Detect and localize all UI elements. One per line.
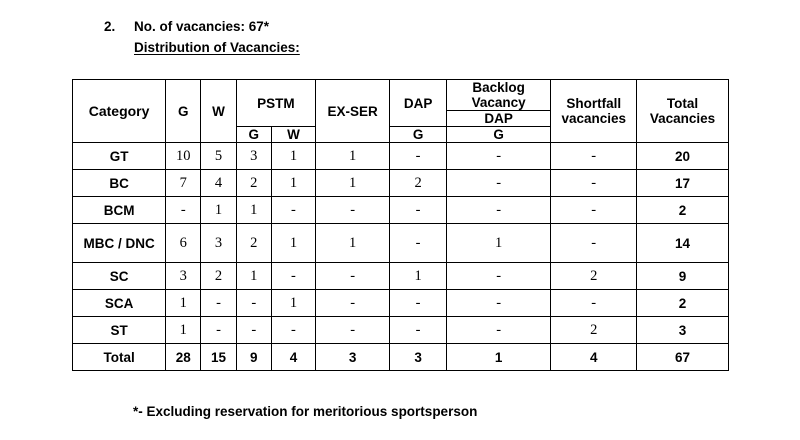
cell-backlog: - bbox=[446, 263, 551, 290]
cell-w: 2 bbox=[201, 263, 236, 290]
header-category: Category bbox=[73, 80, 166, 143]
cell-dap: 2 bbox=[390, 170, 447, 197]
table-row: ST1------23 bbox=[73, 317, 729, 344]
cell-shortfall: - bbox=[551, 290, 637, 317]
cell-pstm-g: 2 bbox=[236, 170, 271, 197]
cell-shortfall: - bbox=[551, 224, 637, 263]
header-pstm: PSTM bbox=[236, 80, 315, 127]
cell-pstm-w: - bbox=[271, 197, 315, 224]
cell-ex-ser: 1 bbox=[315, 224, 389, 263]
cell-g: 3 bbox=[166, 263, 201, 290]
cell-pstm-w: 1 bbox=[271, 224, 315, 263]
cell-shortfall: 2 bbox=[551, 263, 637, 290]
cell-dap: 3 bbox=[390, 344, 447, 371]
cell-pstm-g: - bbox=[236, 317, 271, 344]
header-total-vacancies: Total Vacancies bbox=[637, 80, 729, 143]
cell-total: 20 bbox=[637, 143, 729, 170]
vacancy-distribution-table-container: Category G W PSTM EX-SER DAP Backlog Vac… bbox=[72, 79, 729, 371]
cell-pstm-w: - bbox=[271, 317, 315, 344]
heading-line-distribution: Distribution of Vacancies: bbox=[104, 37, 300, 58]
cell-w: - bbox=[201, 290, 236, 317]
cell-dap: - bbox=[390, 143, 447, 170]
cell-total: 14 bbox=[637, 224, 729, 263]
cell-g: 10 bbox=[166, 143, 201, 170]
cell-total: 9 bbox=[637, 263, 729, 290]
cell-w: 4 bbox=[201, 170, 236, 197]
row-label: Total bbox=[73, 344, 166, 371]
cell-pstm-g: 2 bbox=[236, 224, 271, 263]
cell-ex-ser: 1 bbox=[315, 170, 389, 197]
table-header: Category G W PSTM EX-SER DAP Backlog Vac… bbox=[73, 80, 729, 143]
vacancy-distribution-table: Category G W PSTM EX-SER DAP Backlog Vac… bbox=[72, 79, 729, 371]
row-label: BCM bbox=[73, 197, 166, 224]
cell-shortfall: 2 bbox=[551, 317, 637, 344]
cell-w: - bbox=[201, 317, 236, 344]
cell-dap: 1 bbox=[390, 263, 447, 290]
cell-w: 15 bbox=[201, 344, 236, 371]
cell-g: 1 bbox=[166, 290, 201, 317]
header-dap-g: G bbox=[390, 127, 447, 143]
cell-pstm-w: 1 bbox=[271, 143, 315, 170]
row-label: MBC / DNC bbox=[73, 224, 166, 263]
cell-backlog: - bbox=[446, 317, 551, 344]
cell-ex-ser: 1 bbox=[315, 143, 389, 170]
cell-ex-ser: - bbox=[315, 263, 389, 290]
cell-w: 1 bbox=[201, 197, 236, 224]
cell-g: 6 bbox=[166, 224, 201, 263]
cell-backlog: 1 bbox=[446, 344, 551, 371]
cell-pstm-g: 9 bbox=[236, 344, 271, 371]
distribution-title: Distribution of Vacancies: bbox=[134, 40, 300, 55]
cell-pstm-g: - bbox=[236, 290, 271, 317]
row-label: GT bbox=[73, 143, 166, 170]
cell-total: 2 bbox=[637, 290, 729, 317]
cell-pstm-w: 1 bbox=[271, 290, 315, 317]
cell-shortfall: - bbox=[551, 143, 637, 170]
table-row: MBC / DNC63211-1-14 bbox=[73, 224, 729, 263]
header-dap: DAP bbox=[390, 80, 447, 127]
cell-g: 1 bbox=[166, 317, 201, 344]
cell-pstm-w: 1 bbox=[271, 170, 315, 197]
table-row: BC742112--17 bbox=[73, 170, 729, 197]
table-row: SCA1--1----2 bbox=[73, 290, 729, 317]
cell-backlog: - bbox=[446, 143, 551, 170]
header-w: W bbox=[201, 80, 236, 143]
row-label: SC bbox=[73, 263, 166, 290]
table-row: Total281594331467 bbox=[73, 344, 729, 371]
cell-backlog: 1 bbox=[446, 224, 551, 263]
row-label: ST bbox=[73, 317, 166, 344]
header-g: G bbox=[166, 80, 201, 143]
cell-pstm-w: - bbox=[271, 263, 315, 290]
cell-pstm-g: 1 bbox=[236, 263, 271, 290]
cell-total: 67 bbox=[637, 344, 729, 371]
table-body: GT105311---20BC742112--17BCM-11-----2MBC… bbox=[73, 143, 729, 371]
table-row: SC321--1-29 bbox=[73, 263, 729, 290]
list-number: 2. bbox=[104, 16, 134, 37]
vacancies-count-text: No. of vacancies: 67* bbox=[134, 16, 269, 37]
cell-backlog: - bbox=[446, 197, 551, 224]
cell-dap: - bbox=[390, 317, 447, 344]
cell-ex-ser: 3 bbox=[315, 344, 389, 371]
cell-total: 17 bbox=[637, 170, 729, 197]
cell-w: 3 bbox=[201, 224, 236, 263]
cell-shortfall: 4 bbox=[551, 344, 637, 371]
cell-g: 7 bbox=[166, 170, 201, 197]
header-backlog-vacancy: Backlog Vacancy bbox=[446, 80, 551, 111]
row-label: SCA bbox=[73, 290, 166, 317]
cell-pstm-w: 4 bbox=[271, 344, 315, 371]
header-pstm-g: G bbox=[236, 127, 271, 143]
header-shortfall-vacancies: Shortfall vacancies bbox=[551, 80, 637, 143]
cell-total: 2 bbox=[637, 197, 729, 224]
cell-ex-ser: - bbox=[315, 317, 389, 344]
header-backlog-dap: DAP bbox=[446, 111, 551, 127]
row-label: BC bbox=[73, 170, 166, 197]
cell-pstm-g: 3 bbox=[236, 143, 271, 170]
header-ex-ser: EX-SER bbox=[315, 80, 389, 143]
cell-total: 3 bbox=[637, 317, 729, 344]
cell-g: 28 bbox=[166, 344, 201, 371]
cell-pstm-g: 1 bbox=[236, 197, 271, 224]
header-backlog-g: G bbox=[446, 127, 551, 143]
footnote: *- Excluding reservation for meritorious… bbox=[133, 404, 477, 419]
header-pstm-w: W bbox=[271, 127, 315, 143]
cell-shortfall: - bbox=[551, 197, 637, 224]
cell-dap: - bbox=[390, 197, 447, 224]
cell-backlog: - bbox=[446, 290, 551, 317]
cell-backlog: - bbox=[446, 170, 551, 197]
cell-dap: - bbox=[390, 290, 447, 317]
cell-ex-ser: - bbox=[315, 290, 389, 317]
cell-ex-ser: - bbox=[315, 197, 389, 224]
table-row: GT105311---20 bbox=[73, 143, 729, 170]
table-row: BCM-11-----2 bbox=[73, 197, 729, 224]
cell-w: 5 bbox=[201, 143, 236, 170]
cell-dap: - bbox=[390, 224, 447, 263]
section-heading: 2. No. of vacancies: 67* Distribution of… bbox=[104, 16, 300, 58]
heading-line-vacancies: 2. No. of vacancies: 67* bbox=[104, 16, 300, 37]
cell-g: - bbox=[166, 197, 201, 224]
cell-shortfall: - bbox=[551, 170, 637, 197]
header-row-1: Category G W PSTM EX-SER DAP Backlog Vac… bbox=[73, 80, 729, 111]
